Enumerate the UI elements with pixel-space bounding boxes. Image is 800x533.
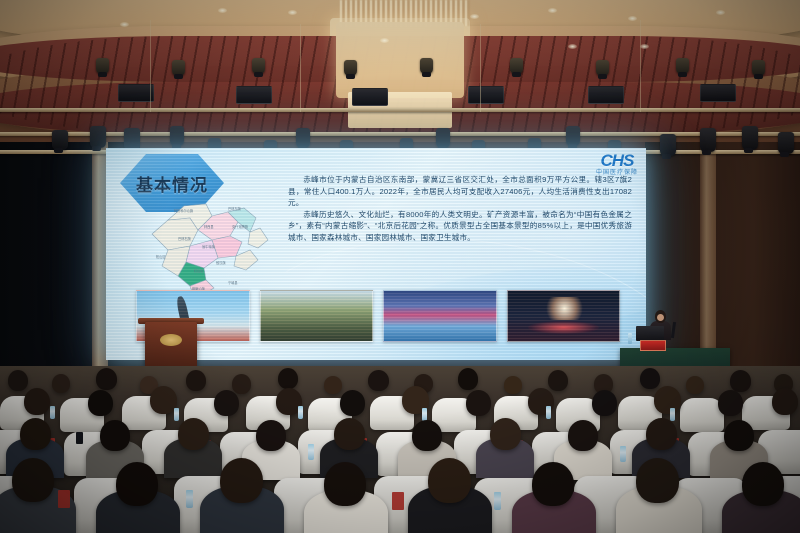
slide-body-text: 赤峰市位于内蒙古自治区东南部，蒙冀辽三省区交汇处，全市总面积9万平方公里。辖3区…: [288, 174, 632, 244]
audience-head: [718, 390, 743, 416]
conference-photo-scene: 基本情况 CHS 中国医疗保障: [0, 0, 800, 533]
chs-logo-mark: CHS: [596, 152, 638, 169]
audience-head: [742, 462, 784, 506]
audience-head: [88, 390, 113, 416]
water-bottle: [494, 492, 501, 510]
stage-light-fixture: [420, 58, 433, 74]
chs-logo: CHS 中国医疗保障: [596, 152, 638, 176]
moving-head-light: [660, 134, 676, 156]
audience-head: [730, 370, 751, 392]
svg-text:巴林右旗: 巴林右旗: [178, 236, 192, 241]
slide-paragraph-1: 赤峰市位于内蒙古自治区东南部，蒙冀辽三省区交汇处，全市总面积9万平方公里。辖3区…: [288, 174, 632, 209]
downlight: [628, 16, 637, 21]
audience-head: [772, 388, 798, 415]
speaker-nameplate: [640, 340, 666, 351]
audience-head: [428, 458, 471, 503]
svg-text:巴林左旗: 巴林左旗: [228, 206, 242, 211]
water-bottle: [546, 406, 551, 419]
audience-head: [232, 374, 251, 394]
line-array-speaker: [588, 86, 624, 104]
moving-head-light-front: [296, 128, 310, 148]
rigging-wire: [300, 24, 301, 112]
wall-pillar-right: [700, 142, 716, 382]
lectern-emblem: [160, 334, 182, 346]
audience-head: [686, 376, 704, 394]
stage-light-fixture: [752, 60, 765, 76]
audience-head: [100, 420, 130, 451]
audience-head: [96, 368, 117, 390]
moving-head-light: [52, 130, 68, 150]
audience-head: [646, 418, 677, 450]
audience-head: [278, 368, 298, 389]
audience-head: [12, 458, 54, 502]
audience-head: [490, 418, 521, 450]
water-bottle: [670, 408, 675, 421]
downlight: [548, 8, 557, 13]
audience-head: [24, 388, 50, 415]
audience-head: [324, 376, 342, 394]
moving-head-light: [778, 132, 794, 154]
stage-lectern: [145, 322, 197, 366]
audience-head: [20, 418, 51, 450]
audience-head: [654, 386, 681, 414]
slide-photo-3: [383, 290, 497, 342]
audience-head: [8, 370, 28, 391]
slide-photo-4: [507, 290, 621, 342]
audience-phone: [76, 432, 83, 444]
rigging-wire: [150, 20, 151, 112]
stage-light-fixture: [172, 60, 185, 76]
audience-head: [458, 368, 478, 390]
audience-head: [340, 390, 365, 416]
audience-head: [324, 462, 366, 506]
seat-folder: [58, 490, 70, 508]
audience-head: [220, 458, 263, 503]
audience-head: [368, 370, 389, 391]
svg-text:红山区: 红山区: [194, 268, 204, 273]
rigging-wire: [480, 24, 481, 112]
downlight: [120, 22, 129, 27]
lighting-truss-upper: [0, 108, 800, 112]
moving-head-light-front: [436, 128, 450, 148]
water-bottle: [308, 444, 314, 460]
moving-head-light: [90, 126, 106, 148]
line-array-speaker: [352, 88, 388, 106]
downlight: [716, 10, 725, 15]
audience-head: [334, 418, 365, 450]
audience-head: [504, 376, 522, 394]
downlight: [380, 38, 389, 43]
moving-head-light: [124, 128, 140, 150]
svg-text:敖汉旗: 敖汉旗: [216, 260, 226, 265]
audience-head: [150, 386, 177, 414]
water-bottle-table: [628, 333, 632, 344]
speaker-laptop: [636, 326, 664, 341]
svg-text:阿鲁科尔沁旗: 阿鲁科尔沁旗: [174, 208, 194, 213]
audience-head: [412, 420, 442, 451]
rigging-wire: [640, 20, 641, 112]
audience-area: [0, 366, 800, 533]
audience-head: [116, 462, 158, 506]
stage-light-fixture: [596, 60, 609, 76]
slide-photo-2: [260, 290, 374, 342]
moving-head-light: [700, 128, 716, 152]
moving-head-light-front: [566, 126, 580, 146]
lighting-truss-mid: [0, 132, 800, 136]
svg-text:宁城县: 宁城县: [228, 280, 238, 285]
stage-light-fixture: [252, 58, 265, 74]
speaker-face: [657, 314, 664, 321]
audience-head: [466, 390, 491, 416]
downlight: [568, 44, 577, 49]
moving-head-light-front: [170, 126, 184, 146]
water-bottle: [186, 490, 193, 508]
water-bottle: [620, 446, 626, 462]
audience-head: [532, 462, 574, 506]
slide-paragraph-2: 赤峰历史悠久、文化灿烂，有8000年的人类文明史。矿产资源丰富，被命名为“中国有…: [288, 209, 632, 244]
line-array-speaker: [468, 86, 504, 104]
water-bottle: [174, 408, 179, 421]
moving-head-light: [742, 126, 758, 150]
stage-light-fixture: [676, 58, 689, 74]
downlight: [218, 8, 227, 13]
svg-text:林西县: 林西县: [204, 224, 214, 229]
stage-light-fixture: [344, 60, 357, 76]
downlight: [470, 14, 479, 19]
water-bottle: [50, 406, 55, 419]
seat-folder: [392, 492, 404, 510]
audience-head: [724, 420, 754, 451]
audience-head: [568, 420, 598, 451]
svg-text:克什克腾旗: 克什克腾旗: [232, 224, 249, 229]
downlight: [288, 10, 297, 15]
audience-head: [636, 458, 679, 503]
audience-head: [186, 370, 206, 391]
svg-text:松山区: 松山区: [156, 254, 166, 259]
stage-right-wall: [645, 142, 800, 382]
line-array-speaker: [700, 84, 736, 102]
chifeng-administrative-map: 阿鲁科尔沁旗 巴林左旗 林西县 克什克腾旗 巴林右旗 翁牛特旗 红山区 敖汉旗 …: [132, 188, 280, 296]
audience-head: [214, 390, 239, 416]
stage-light-fixture: [96, 58, 109, 74]
downlight: [640, 44, 649, 49]
audience-head: [256, 420, 286, 451]
line-array-speaker: [236, 86, 272, 104]
audience-head: [592, 390, 617, 416]
audience-head: [548, 370, 568, 391]
line-array-speaker: [118, 84, 154, 102]
audience-head: [178, 418, 209, 450]
water-bottle: [298, 406, 303, 419]
stage-light-fixture: [510, 58, 523, 74]
audience-head: [52, 374, 70, 393]
svg-text:翁牛特旗: 翁牛特旗: [202, 244, 216, 249]
audience-head: [640, 368, 660, 389]
slide-photo-strip: [136, 290, 620, 342]
